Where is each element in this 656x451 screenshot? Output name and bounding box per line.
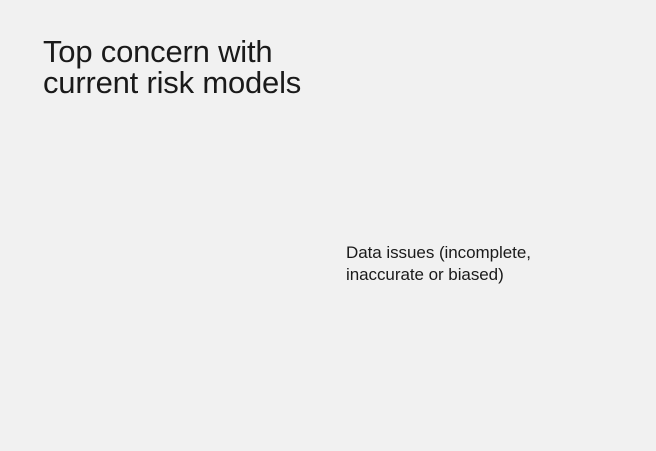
- slide-canvas: Top concern with current risk models Dat…: [0, 0, 656, 451]
- top-concern-answer-label: Data issues (incomplete, inaccurate or b…: [346, 242, 561, 286]
- page-title: Top concern with current risk models: [43, 36, 463, 98]
